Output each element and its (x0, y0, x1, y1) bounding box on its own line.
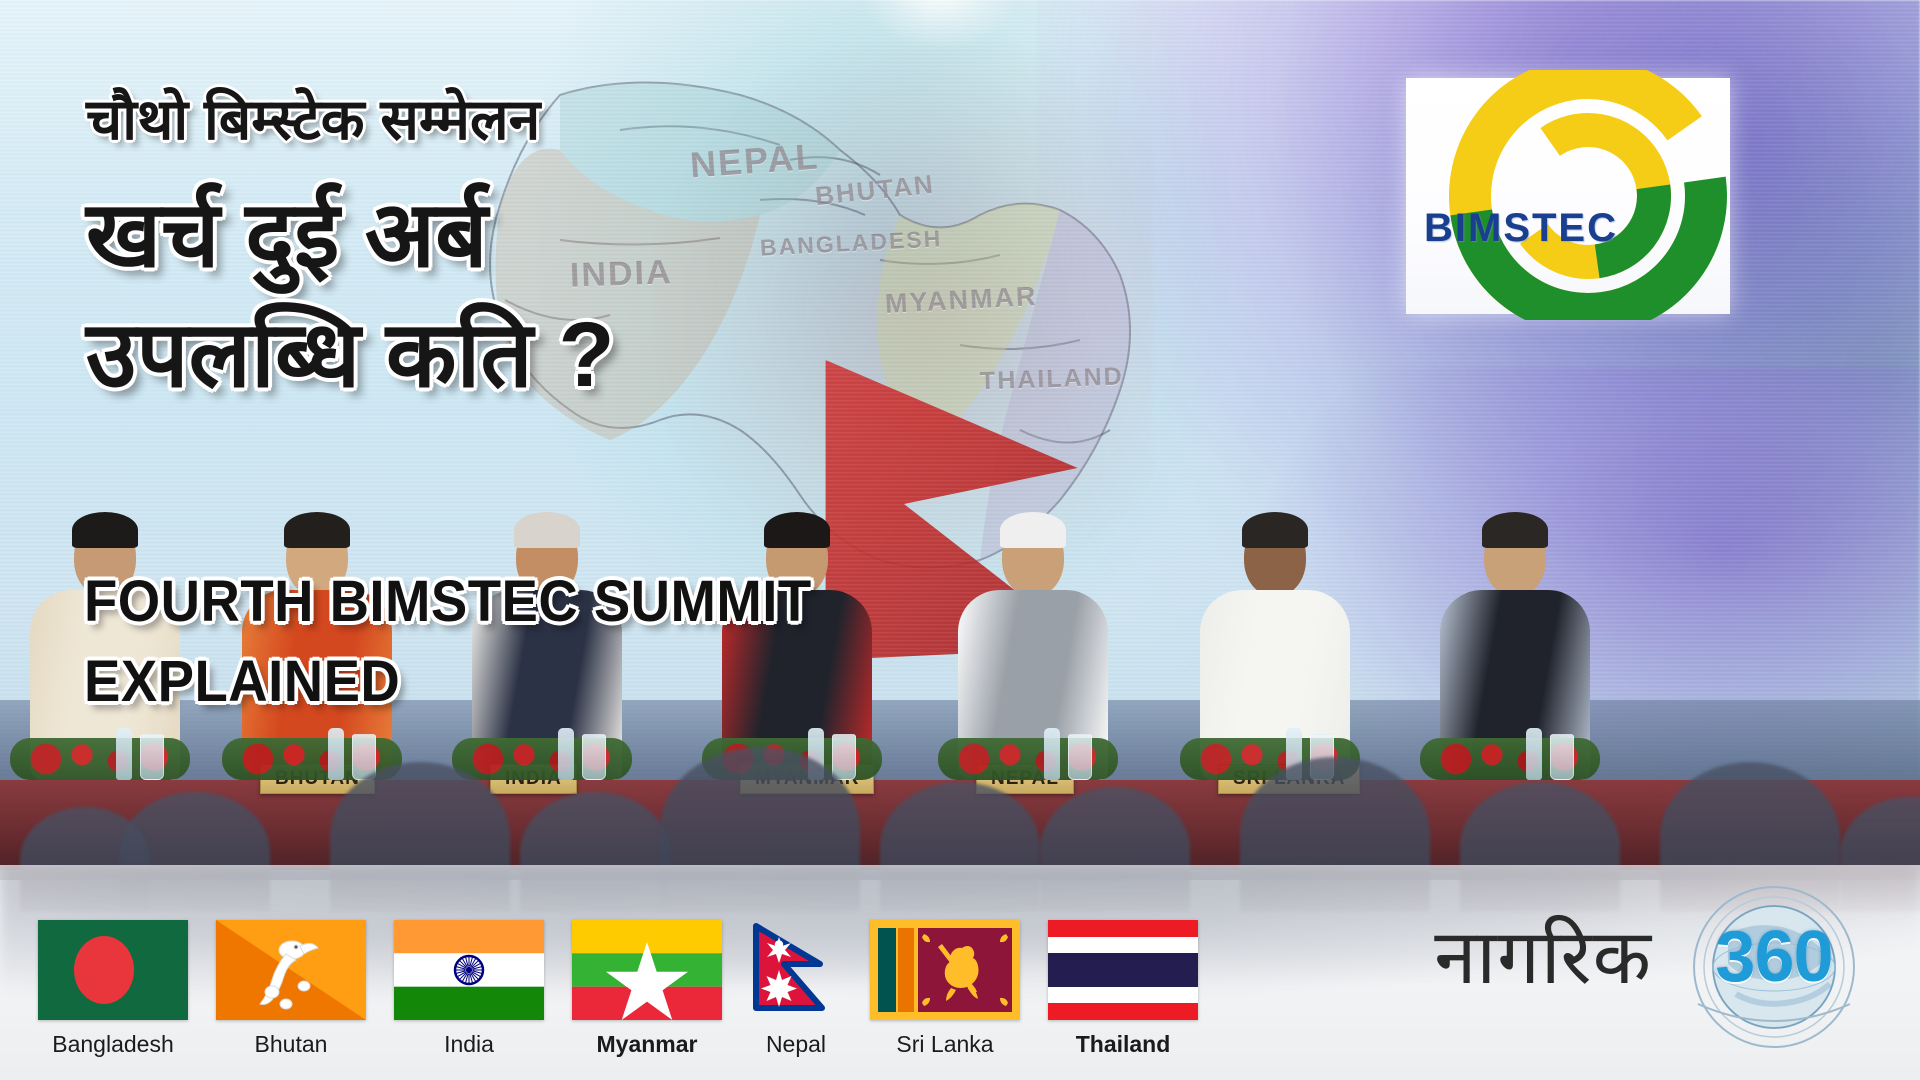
water-bottle (328, 728, 344, 780)
flag-cell-india: India (394, 920, 544, 1058)
subtitle-line-2: EXPLAINED (84, 648, 400, 715)
headline-line-2: खर्च दुई अर्ब (86, 168, 488, 293)
flag-myanmar-icon (572, 920, 722, 1020)
flag-caption: Thailand (1076, 1031, 1171, 1058)
map-label-thailand: THAILAND (980, 363, 1125, 397)
flag-caption: Myanmar (597, 1031, 698, 1058)
flag-cell-bangladesh: Bangladesh (38, 920, 188, 1058)
brand-name-nepali: नागरिक (1434, 903, 1652, 1006)
flag-cell-srilanka: Sri Lanka (870, 920, 1020, 1058)
flag-cell-myanmar: Myanmar (572, 920, 722, 1058)
flag-caption: India (444, 1031, 494, 1058)
bottom-bar: BangladeshBhutanIndiaMyanmarNepalSri Lan… (0, 865, 1920, 1080)
bimstec-wordmark: BIMSTEC (1424, 206, 1618, 251)
water-bottle (116, 728, 132, 780)
flag-bhutan-icon (216, 920, 366, 1020)
flag-india-icon (394, 920, 544, 1020)
map-label-nepal: NEPAL (689, 136, 821, 187)
logo-number-360: 360 (1674, 916, 1874, 998)
flag-caption: Bhutan (255, 1031, 328, 1058)
bimstec-logo: BIMSTEC (1406, 78, 1730, 314)
water-bottle (1044, 728, 1060, 780)
bimstec-spiral-icon (1406, 70, 1736, 320)
headline-line-1: चौथो बिम्स्टेक सम्मेलन (86, 78, 540, 156)
water-glass (1068, 734, 1092, 780)
water-bottle (808, 728, 824, 780)
water-glass (1550, 734, 1574, 780)
water-glass (832, 734, 856, 780)
thumbnail-canvas: NEPALBHUTANBANGLADESHINDIAMYANMARTHAILAN… (0, 0, 1920, 1080)
water-bottle (1526, 728, 1542, 780)
flag-cell-bhutan: Bhutan (216, 920, 366, 1058)
flag-nepal-icon (750, 920, 842, 1020)
water-glass (1310, 734, 1334, 780)
flag-cell-thailand: Thailand (1048, 920, 1198, 1058)
water-bottle (558, 728, 574, 780)
water-bottle (1286, 728, 1302, 780)
water-glass (352, 734, 376, 780)
flag-caption: Nepal (766, 1031, 826, 1058)
water-glass (140, 734, 164, 780)
water-glass (582, 734, 606, 780)
flag-srilanka-icon (870, 920, 1020, 1020)
flag-bangladesh-icon (38, 920, 188, 1020)
nagarik-360-logo: 360 (1674, 882, 1874, 1052)
headline-line-3: उपलब्धि कति ? (86, 288, 615, 413)
flag-cell-nepal: Nepal (750, 920, 842, 1058)
member-flags-row: BangladeshBhutanIndiaMyanmarNepalSri Lan… (38, 920, 1198, 1058)
flag-thailand-icon (1048, 920, 1198, 1020)
flag-caption: Sri Lanka (896, 1031, 993, 1058)
subtitle-line-1: FOURTH BIMSTEC SUMMIT (84, 568, 812, 635)
flag-caption: Bangladesh (52, 1031, 174, 1058)
